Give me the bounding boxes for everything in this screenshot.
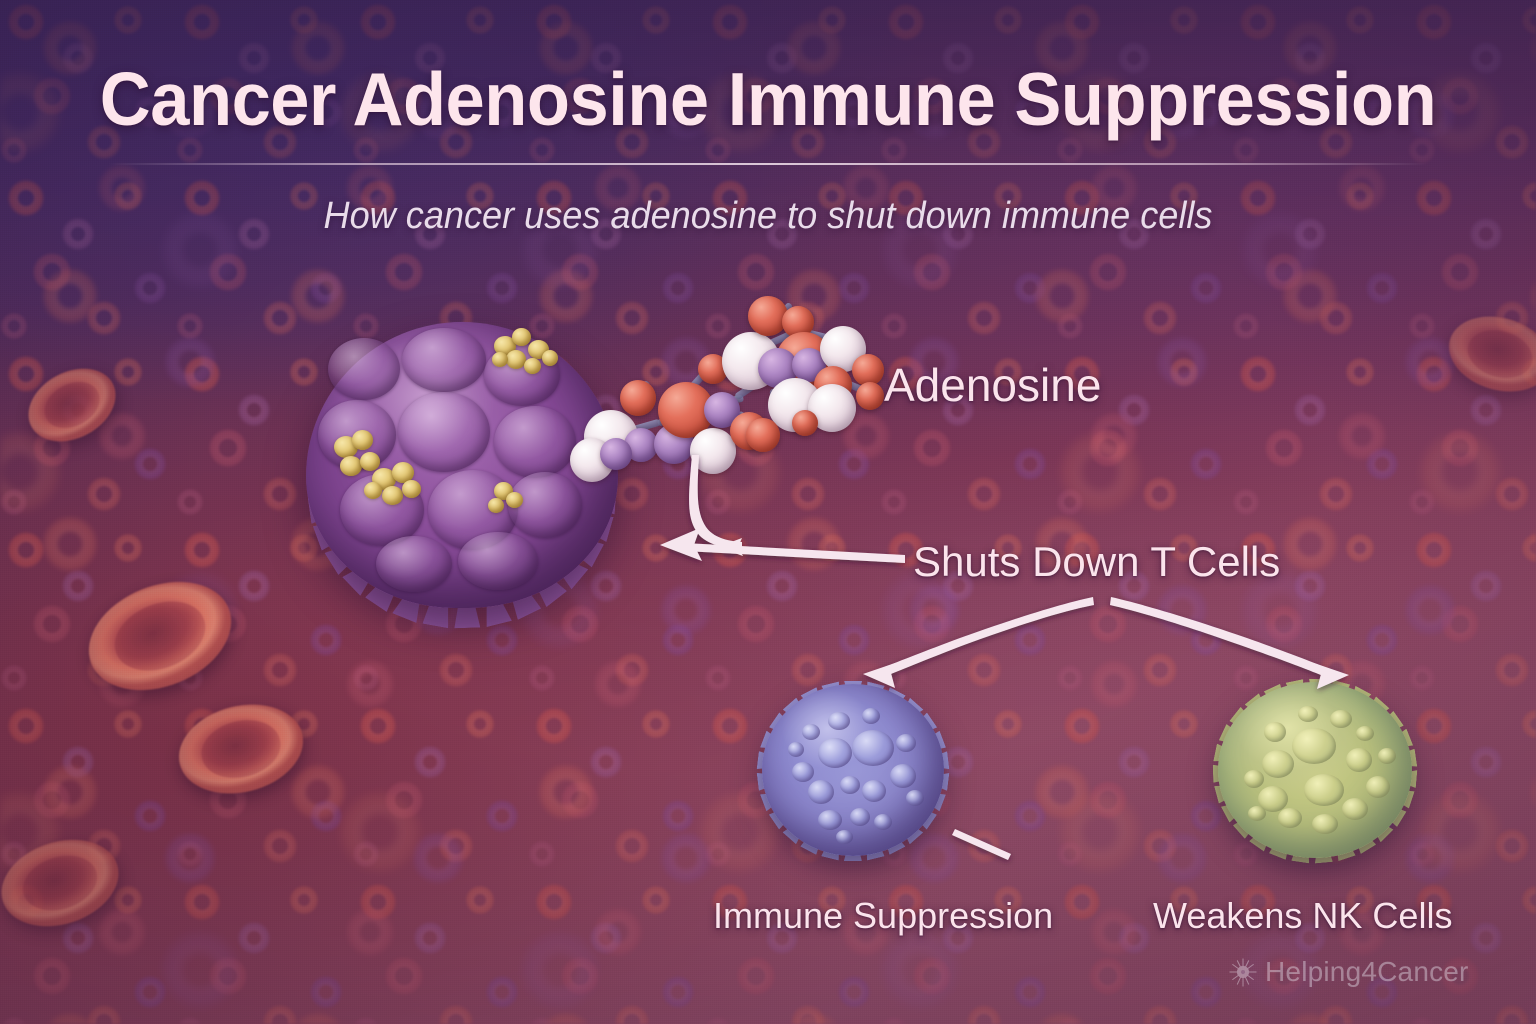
molecule-atom-carbon	[746, 418, 780, 452]
tumor-granule	[364, 482, 382, 499]
label-shuts-down-t-cells: Shuts Down T Cells	[913, 538, 1280, 586]
molecule-atom-carbon	[792, 410, 818, 436]
tumor-granule	[372, 468, 396, 490]
molecule-atom-nitrogen	[600, 438, 632, 470]
watermark-text: Helping4Cancer	[1265, 956, 1469, 988]
infographic-canvas: Cancer Adenosine Immune Suppression How …	[0, 0, 1536, 1024]
spiky-cell-icon	[1228, 957, 1258, 987]
tumor-granule	[524, 358, 541, 374]
nk-cell-body	[1218, 682, 1412, 858]
tumor-granule	[392, 462, 414, 483]
tumor-granule	[382, 486, 403, 505]
molecule-atom-oxygen	[690, 428, 736, 474]
t-cell	[718, 648, 988, 893]
tumor-granule	[494, 336, 516, 356]
nk-cell	[1170, 648, 1460, 893]
page-title: Cancer Adenosine Immune Suppression	[46, 56, 1490, 142]
tumor-granule	[340, 456, 362, 476]
molecule-atom-carbon	[620, 380, 656, 416]
tumor-granule	[506, 350, 526, 369]
tumor-granule	[506, 492, 523, 508]
page-subtitle: How cancer uses adenosine to shut down i…	[38, 195, 1497, 238]
tumor-granule	[492, 352, 508, 367]
tumor-granule	[352, 430, 373, 450]
label-weakens-nk-cells: Weakens NK Cells	[1153, 895, 1452, 937]
watermark: Helping4Cancer	[1228, 956, 1469, 988]
tumor-granule	[494, 482, 513, 500]
title-divider	[108, 163, 1428, 165]
tumor-granule	[402, 480, 421, 498]
tumor-granule	[360, 452, 380, 471]
label-immune-suppression: Immune Suppression	[713, 895, 1053, 937]
tumor-granule	[488, 498, 504, 513]
t-cell-body	[762, 684, 944, 856]
label-adenosine: Adenosine	[884, 358, 1101, 412]
adenosine-molecule	[570, 288, 900, 478]
molecule-atom-carbon	[856, 382, 884, 410]
tumor-granule	[334, 436, 358, 458]
tumor-granule	[542, 350, 558, 366]
